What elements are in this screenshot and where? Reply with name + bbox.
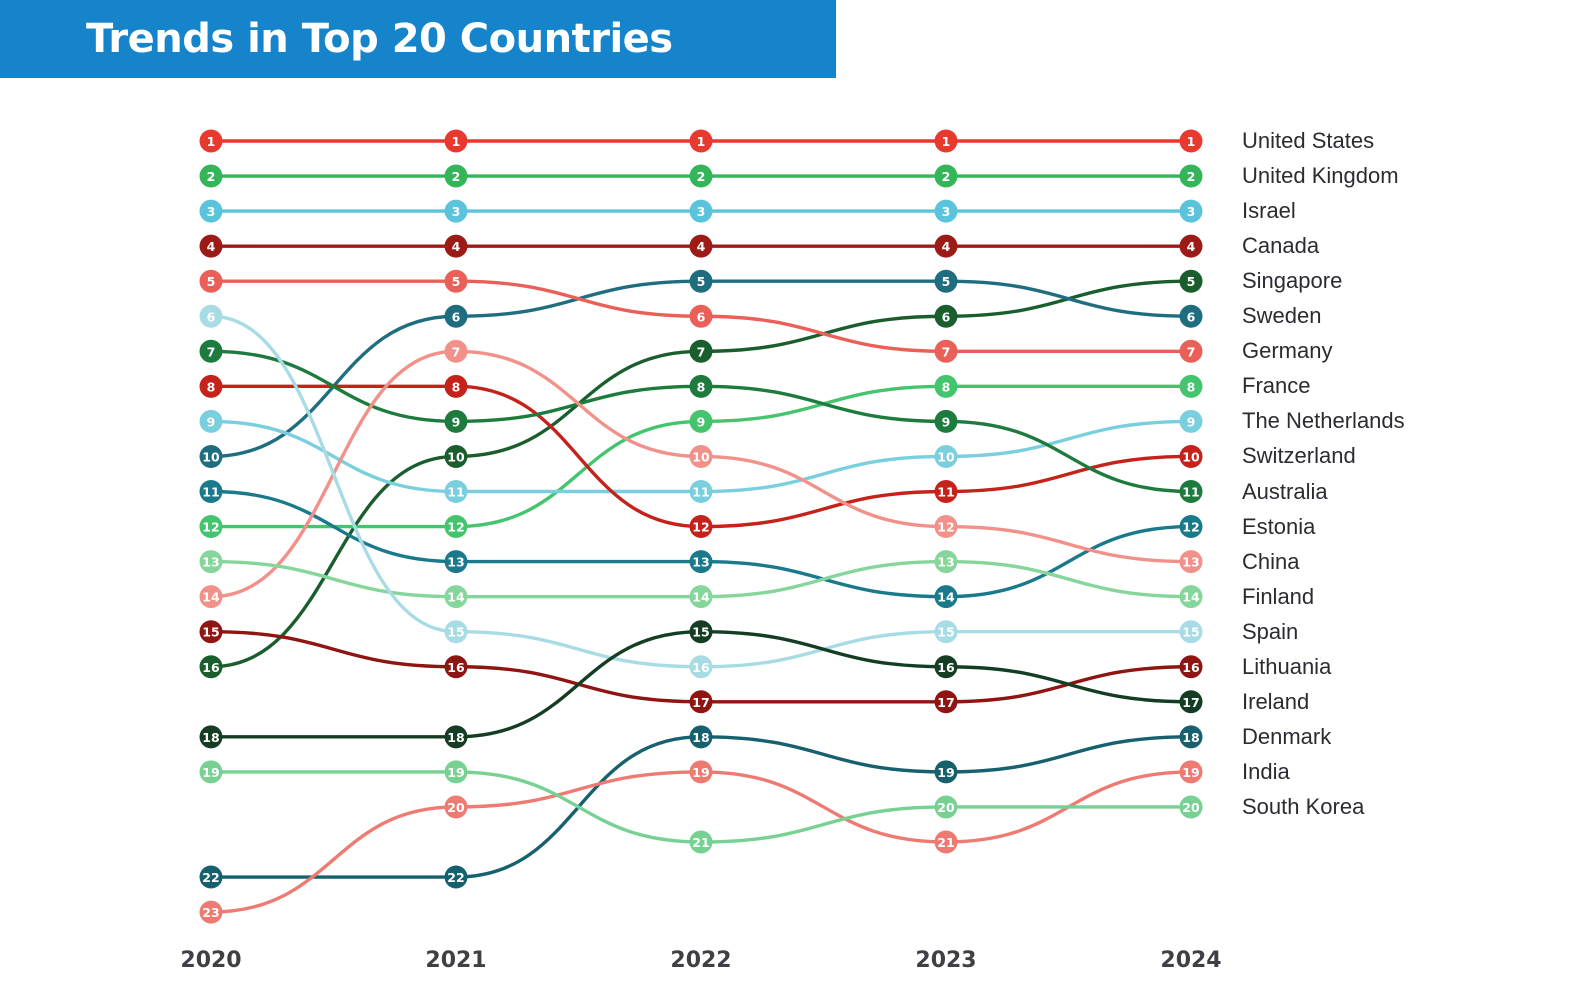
- legend-item-switzerland[interactable]: Switzerland: [1242, 443, 1356, 469]
- datapoint-the-netherlands-2024[interactable]: 9: [1180, 410, 1203, 433]
- datapoint-finland-2021[interactable]: 14: [445, 585, 468, 608]
- datapoint-canada-2022[interactable]: 4: [690, 235, 713, 258]
- datapoint-canada-2021[interactable]: 4: [445, 235, 468, 258]
- bump-chart-figure: Trends in Top 20 Countries 1111122222333…: [0, 0, 1580, 1008]
- datapoint-united-kingdom-2022[interactable]: 2: [690, 165, 713, 188]
- datapoint-the-netherlands-2023[interactable]: 10: [935, 445, 958, 468]
- datapoint-china-2023[interactable]: 12: [935, 515, 958, 538]
- datapoint-lithuania-2023[interactable]: 17: [935, 690, 958, 713]
- legend-item-south-korea[interactable]: South Korea: [1242, 794, 1364, 820]
- datapoint-france-2021[interactable]: 12: [445, 515, 468, 538]
- series-line-ireland[interactable]: [211, 632, 1191, 737]
- datapoint-israel-2020[interactable]: 3: [200, 200, 223, 223]
- datapoint-the-netherlands-2021[interactable]: 11: [445, 480, 468, 503]
- datapoint-israel-2022[interactable]: 3: [690, 200, 713, 223]
- datapoint-switzerland-2022[interactable]: 12: [690, 515, 713, 538]
- datapoint-south-korea-2024[interactable]: 20: [1180, 795, 1203, 818]
- datapoint-spain-2022[interactable]: 16: [690, 655, 713, 678]
- datapoint-ireland-2023[interactable]: 16: [935, 655, 958, 678]
- datapoint-estonia-2024[interactable]: 12: [1180, 515, 1203, 538]
- datapoint-germany-2021[interactable]: 5: [445, 270, 468, 293]
- datapoint-denmark-2020[interactable]: 22: [200, 866, 223, 889]
- datapoint-australia-2024[interactable]: 11: [1180, 480, 1203, 503]
- datapoint-united-states-2022[interactable]: 1: [690, 130, 713, 153]
- datapoint-germany-2020[interactable]: 5: [200, 270, 223, 293]
- legend-item-united-kingdom[interactable]: United Kingdom: [1242, 163, 1399, 189]
- datapoint-united-states-2024[interactable]: 1: [1180, 130, 1203, 153]
- datapoint-spain-2021[interactable]: 15: [445, 620, 468, 643]
- datapoint-united-states-2023[interactable]: 1: [935, 130, 958, 153]
- datapoint-ireland-2024[interactable]: 17: [1180, 690, 1203, 713]
- datapoint-switzerland-2024[interactable]: 10: [1180, 445, 1203, 468]
- legend-item-spain[interactable]: Spain: [1242, 619, 1298, 645]
- datapoint-germany-2024[interactable]: 7: [1180, 340, 1203, 363]
- datapoint-denmark-2021[interactable]: 22: [445, 866, 468, 889]
- datapoint-lithuania-2021[interactable]: 16: [445, 655, 468, 678]
- datapoint-israel-2023[interactable]: 3: [935, 200, 958, 223]
- datapoint-spain-2024[interactable]: 15: [1180, 620, 1203, 643]
- datapoint-singapore-2020[interactable]: 16: [200, 655, 223, 678]
- datapoint-estonia-2021[interactable]: 13: [445, 550, 468, 573]
- legend-item-canada[interactable]: Canada: [1242, 233, 1319, 259]
- datapoint-denmark-2022[interactable]: 18: [690, 725, 713, 748]
- legend-item-united-states[interactable]: United States: [1242, 128, 1374, 154]
- datapoint-israel-2021[interactable]: 3: [445, 200, 468, 223]
- datapoint-canada-2020[interactable]: 4: [200, 235, 223, 258]
- datapoint-singapore-2024[interactable]: 5: [1180, 270, 1203, 293]
- datapoint-estonia-2023[interactable]: 14: [935, 585, 958, 608]
- datapoint-united-kingdom-2024[interactable]: 2: [1180, 165, 1203, 188]
- datapoint-canada-2023[interactable]: 4: [935, 235, 958, 258]
- datapoint-lithuania-2020[interactable]: 15: [200, 620, 223, 643]
- datapoint-south-korea-2020[interactable]: 19: [200, 760, 223, 783]
- legend-item-australia[interactable]: Australia: [1242, 479, 1328, 505]
- datapoint-sweden-2020[interactable]: 10: [200, 445, 223, 468]
- datapoint-estonia-2022[interactable]: 13: [690, 550, 713, 573]
- datapoint-finland-2020[interactable]: 13: [200, 550, 223, 573]
- legend-item-denmark[interactable]: Denmark: [1242, 724, 1331, 750]
- datapoint-ireland-2021[interactable]: 18: [445, 725, 468, 748]
- x-axis-tick-2024: 2024: [1160, 948, 1221, 973]
- datapoint-sweden-2024[interactable]: 6: [1180, 305, 1203, 328]
- datapoint-finland-2023[interactable]: 13: [935, 550, 958, 573]
- x-axis-tick-2021: 2021: [425, 948, 486, 973]
- datapoint-israel-2024[interactable]: 3: [1180, 200, 1203, 223]
- datapoint-lithuania-2022[interactable]: 17: [690, 690, 713, 713]
- datapoint-denmark-2024[interactable]: 18: [1180, 725, 1203, 748]
- datapoint-china-2021[interactable]: 7: [445, 340, 468, 363]
- datapoint-india-2022[interactable]: 19: [690, 760, 713, 783]
- datapoint-finland-2022[interactable]: 14: [690, 585, 713, 608]
- datapoint-the-netherlands-2022[interactable]: 11: [690, 480, 713, 503]
- x-axis-tick-2022: 2022: [670, 948, 731, 973]
- datapoint-estonia-2020[interactable]: 11: [200, 480, 223, 503]
- datapoint-china-2024[interactable]: 13: [1180, 550, 1203, 573]
- legend-item-israel[interactable]: Israel: [1242, 198, 1296, 224]
- datapoint-australia-2022[interactable]: 8: [690, 375, 713, 398]
- datapoint-india-2023[interactable]: 21: [935, 831, 958, 854]
- datapoint-singapore-2023[interactable]: 6: [935, 305, 958, 328]
- datapoint-india-2024[interactable]: 19: [1180, 760, 1203, 783]
- legend-item-singapore[interactable]: Singapore: [1242, 268, 1342, 294]
- datapoint-switzerland-2023[interactable]: 11: [935, 480, 958, 503]
- series-line-singapore[interactable]: [211, 281, 1191, 667]
- legend-item-estonia[interactable]: Estonia: [1242, 514, 1315, 540]
- datapoint-united-states-2021[interactable]: 1: [445, 130, 468, 153]
- datapoint-sweden-2022[interactable]: 5: [690, 270, 713, 293]
- datapoint-china-2022[interactable]: 10: [690, 445, 713, 468]
- datapoint-australia-2021[interactable]: 9: [445, 410, 468, 433]
- datapoint-india-2021[interactable]: 20: [445, 795, 468, 818]
- datapoint-france-2024[interactable]: 8: [1180, 375, 1203, 398]
- datapoint-finland-2024[interactable]: 14: [1180, 585, 1203, 608]
- x-axis-tick-2023: 2023: [915, 948, 976, 973]
- datapoint-spain-2020[interactable]: 6: [200, 305, 223, 328]
- datapoint-singapore-2021[interactable]: 10: [445, 445, 468, 468]
- datapoint-spain-2023[interactable]: 15: [935, 620, 958, 643]
- legend-item-lithuania[interactable]: Lithuania: [1242, 654, 1331, 680]
- datapoint-singapore-2022[interactable]: 7: [690, 340, 713, 363]
- datapoint-australia-2020[interactable]: 7: [200, 340, 223, 363]
- legend-item-india[interactable]: India: [1242, 759, 1290, 785]
- legend-item-finland[interactable]: Finland: [1242, 584, 1314, 610]
- datapoint-lithuania-2024[interactable]: 16: [1180, 655, 1203, 678]
- legend-item-sweden[interactable]: Sweden: [1242, 303, 1322, 329]
- datapoint-switzerland-2021[interactable]: 8: [445, 375, 468, 398]
- x-axis-tick-2020: 2020: [180, 948, 241, 973]
- datapoint-australia-2023[interactable]: 9: [935, 410, 958, 433]
- datapoint-germany-2022[interactable]: 6: [690, 305, 713, 328]
- datapoint-france-2022[interactable]: 9: [690, 410, 713, 433]
- datapoint-germany-2023[interactable]: 7: [935, 340, 958, 363]
- datapoint-sweden-2023[interactable]: 5: [935, 270, 958, 293]
- legend-item-the-netherlands[interactable]: The Netherlands: [1242, 408, 1405, 434]
- datapoint-united-kingdom-2020[interactable]: 2: [200, 165, 223, 188]
- legend-item-china[interactable]: China: [1242, 549, 1299, 575]
- datapoint-switzerland-2020[interactable]: 8: [200, 375, 223, 398]
- datapoint-united-states-2020[interactable]: 1: [200, 130, 223, 153]
- datapoint-canada-2024[interactable]: 4: [1180, 235, 1203, 258]
- datapoint-china-2020[interactable]: 14: [200, 585, 223, 608]
- datapoint-south-korea-2022[interactable]: 21: [690, 831, 713, 854]
- datapoint-south-korea-2023[interactable]: 20: [935, 795, 958, 818]
- datapoint-india-2020[interactable]: 23: [200, 901, 223, 924]
- datapoint-united-kingdom-2023[interactable]: 2: [935, 165, 958, 188]
- legend-item-france[interactable]: France: [1242, 373, 1310, 399]
- series-line-estonia[interactable]: [211, 492, 1191, 597]
- datapoint-ireland-2022[interactable]: 15: [690, 620, 713, 643]
- datapoint-united-kingdom-2021[interactable]: 2: [445, 165, 468, 188]
- datapoint-the-netherlands-2020[interactable]: 9: [200, 410, 223, 433]
- datapoint-france-2020[interactable]: 12: [200, 515, 223, 538]
- datapoint-south-korea-2021[interactable]: 19: [445, 760, 468, 783]
- datapoint-ireland-2020[interactable]: 18: [200, 725, 223, 748]
- legend-item-ireland[interactable]: Ireland: [1242, 689, 1309, 715]
- datapoint-sweden-2021[interactable]: 6: [445, 305, 468, 328]
- datapoint-france-2023[interactable]: 8: [935, 375, 958, 398]
- legend-item-germany[interactable]: Germany: [1242, 338, 1332, 364]
- datapoint-denmark-2023[interactable]: 19: [935, 760, 958, 783]
